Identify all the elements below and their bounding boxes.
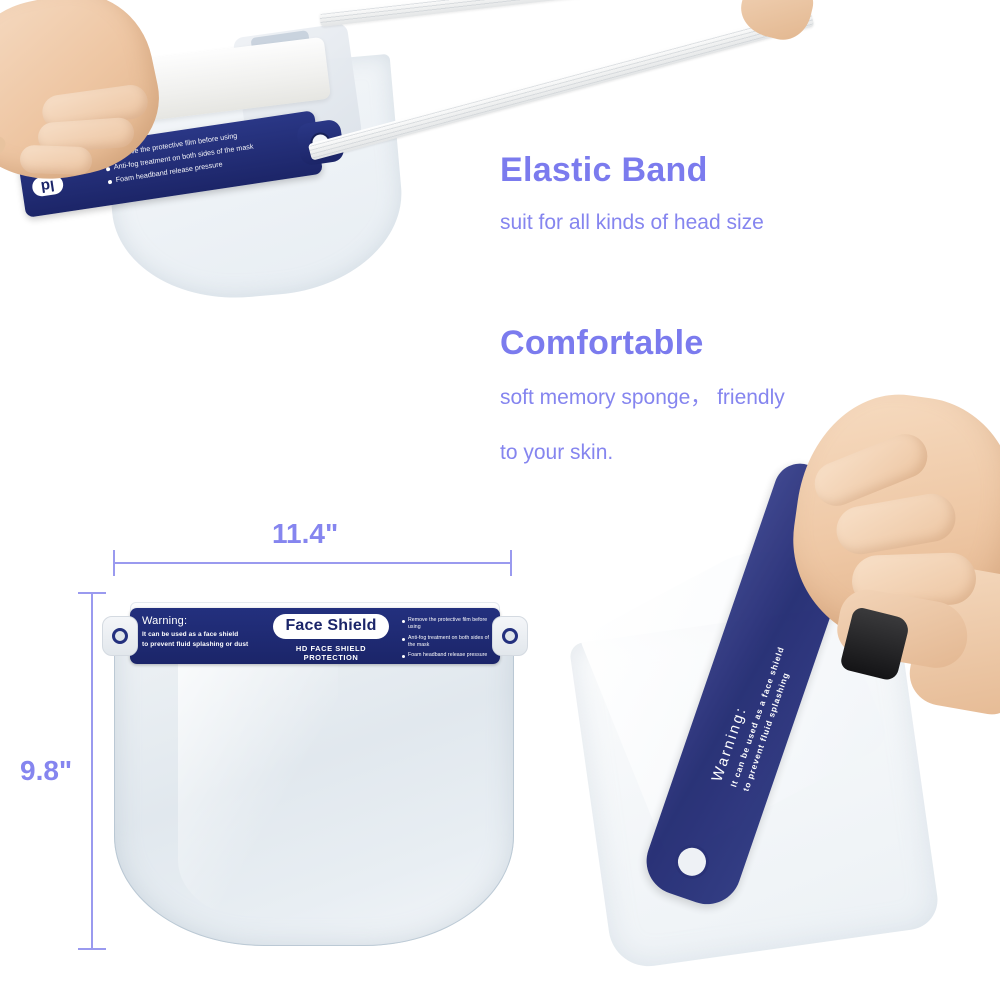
dimension-width-line bbox=[113, 562, 512, 564]
warning-line-2: to prevent fluid splashing or dust bbox=[142, 640, 258, 650]
bullet-dot-icon bbox=[402, 620, 405, 623]
warning-body: It can be used as a face shield to preve… bbox=[142, 630, 258, 650]
bullet-text: Anti-fog treatment on both sides of the … bbox=[408, 635, 494, 649]
eyelet-hole-icon bbox=[502, 628, 518, 644]
brand-subtitle: HD FACE SHIELD PROTECTION bbox=[270, 644, 392, 662]
feature-heading-elastic-band: Elastic Band bbox=[500, 152, 764, 189]
infographic-canvas: ld ION Remove the protective film before… bbox=[0, 0, 1000, 1000]
photo-hand-gripping-shield: Warning: It can be used as a face shield… bbox=[600, 420, 1000, 1000]
brand-block: Face Shield HD FACE SHIELD PROTECTION bbox=[270, 614, 392, 662]
label-content: Warning: It can be used as a face shield… bbox=[130, 608, 500, 664]
bullet-dot-icon bbox=[402, 638, 405, 641]
bullet-item: Anti-fog treatment on both sides of the … bbox=[402, 635, 494, 649]
dimension-width-label: 11.4" bbox=[272, 518, 338, 550]
feature-elastic-band: Elastic Band suit for all kinds of head … bbox=[500, 152, 764, 242]
visor-reflection bbox=[178, 640, 338, 920]
feature-bullet-list: Remove the protective film before using … bbox=[402, 617, 494, 663]
dimension-height-line bbox=[91, 592, 93, 950]
feature-heading-comfortable: Comfortable bbox=[500, 325, 785, 362]
warning-line-1: It can be used as a face shield bbox=[142, 630, 258, 640]
eyelet-hole-icon bbox=[112, 628, 128, 644]
dimension-height-label: 9.8" bbox=[20, 755, 72, 787]
visor-panel bbox=[114, 620, 514, 946]
photo1-finger bbox=[20, 145, 93, 175]
eyelet-hole-icon bbox=[670, 840, 713, 883]
product-face-shield-flat: Warning: It can be used as a face shield… bbox=[108, 586, 520, 952]
product-label-band: Warning: It can be used as a face shield… bbox=[130, 608, 500, 664]
bullet-item: Remove the protective film before using bbox=[402, 617, 494, 631]
bullet-text: Remove the protective film before using bbox=[408, 617, 494, 631]
bullet-item: Foam headband release pressure bbox=[402, 652, 494, 659]
feature-subtitle-elastic-band: suit for all kinds of head size bbox=[500, 205, 764, 242]
bullet-text: Foam headband release pressure bbox=[408, 652, 487, 659]
visor-edge bbox=[114, 620, 514, 946]
bullet-dot-icon bbox=[108, 180, 113, 185]
warning-block: Warning: It can be used as a face shield… bbox=[142, 615, 258, 650]
brand-name: Face Shield bbox=[273, 614, 388, 639]
bullet-dot-icon bbox=[402, 655, 405, 658]
photo-hand-holding-elastic-band: ld ION Remove the protective film before… bbox=[0, 0, 510, 334]
warning-title: Warning: bbox=[142, 615, 258, 627]
feature-subtitle-comfortable-line1: soft memory sponge， friendly bbox=[500, 380, 785, 417]
